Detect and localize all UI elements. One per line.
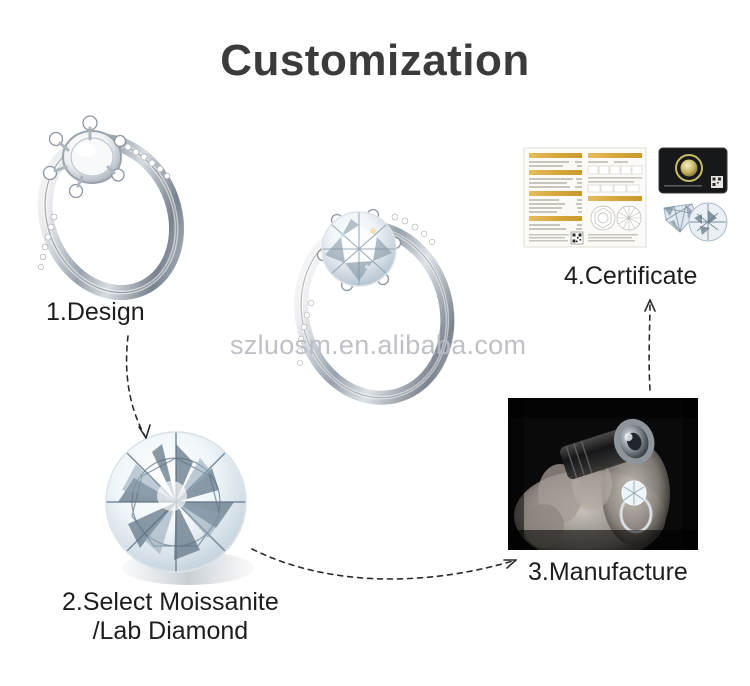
- customization-infographic: Customization: [0, 0, 750, 686]
- diamond-certificate-photo: [522, 140, 742, 255]
- step-label-select-line1: 2.Select Moissanite: [62, 588, 279, 616]
- jeweler-inspecting-ring-photo: [508, 398, 698, 550]
- diamond-inclusion-diagram: [664, 203, 727, 241]
- step-label-design: 1.Design: [46, 298, 145, 327]
- step-label-manufacture: 3.Manufacture: [528, 558, 688, 587]
- qr-code: [571, 232, 583, 244]
- watermark-text: szluosm.en.alibaba.com: [230, 330, 526, 361]
- certificate-id-card: [659, 148, 727, 193]
- finished-solitaire-ring-photo: [255, 175, 490, 425]
- step-label-certificate: 4.Certificate: [564, 262, 697, 291]
- arrow-diamond-to-manufacture: [252, 549, 516, 579]
- step-label-select-line2: /Lab Diamond: [62, 617, 279, 646]
- loose-round-brilliant-diamond-photo: [88, 428, 273, 593]
- arrow-design-to-diamond: [127, 336, 150, 438]
- page-title: Customization: [0, 36, 750, 86]
- step-label-select: 2.Select Moissanite /Lab Diamond: [62, 588, 279, 646]
- empty-ring-setting-photo: [10, 95, 210, 310]
- arrow-manufacture-to-certificate: [645, 300, 655, 390]
